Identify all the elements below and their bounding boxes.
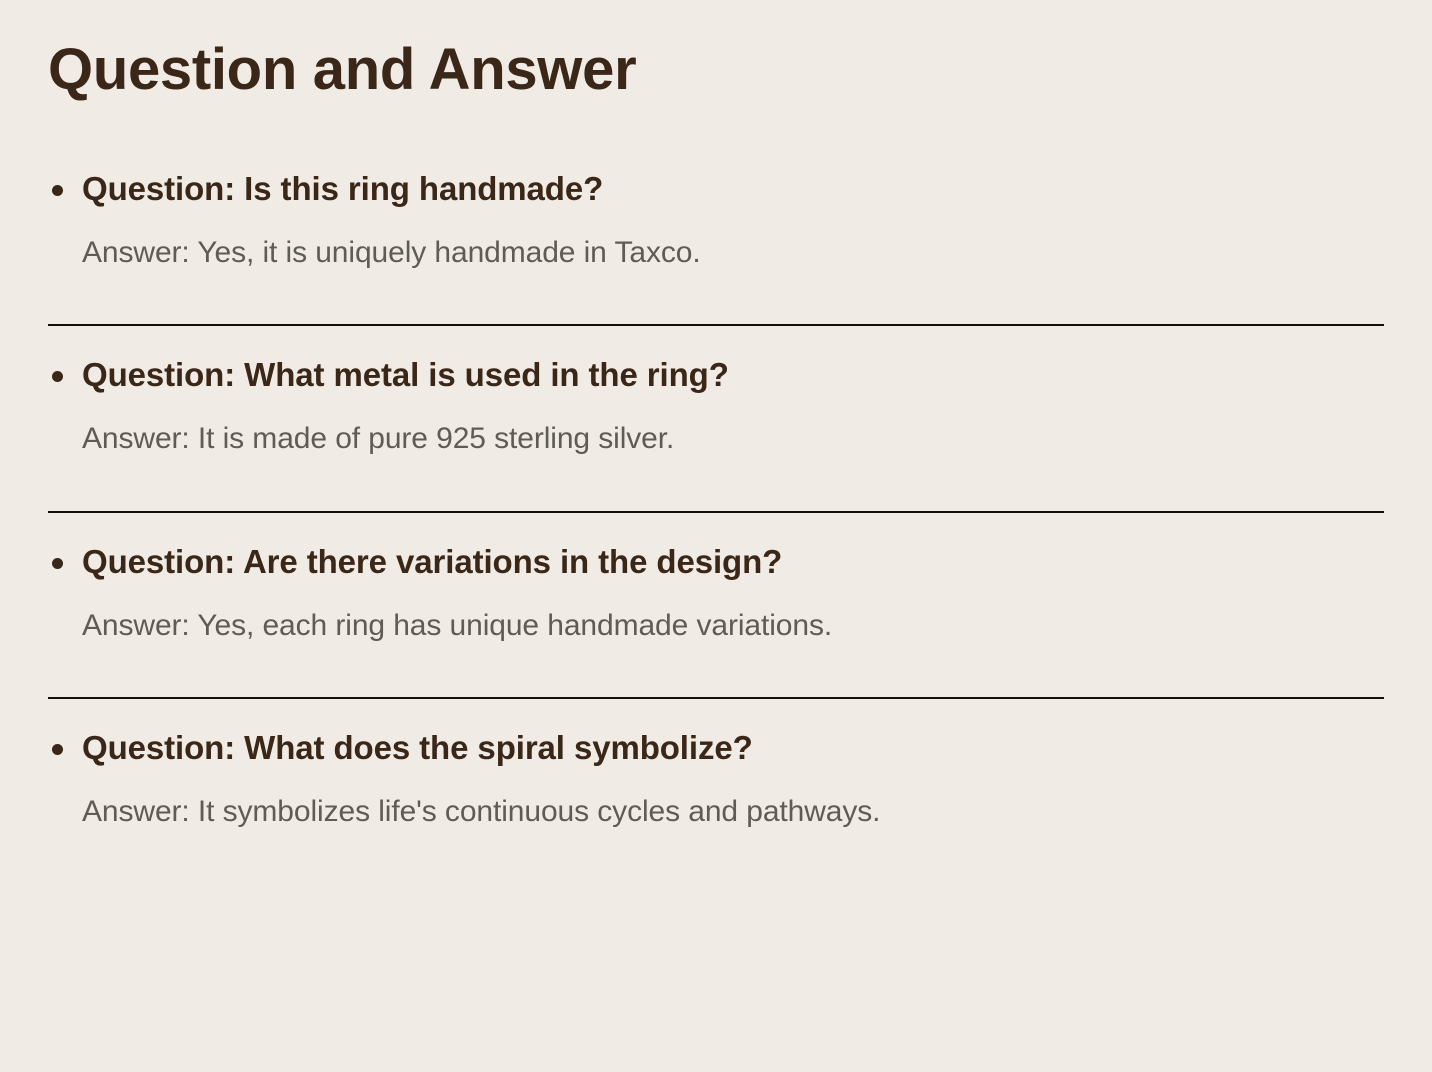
question-text: Question: What does the spiral symbolize… — [82, 727, 1384, 770]
bullet-dot-icon — [52, 371, 63, 382]
question-text: Question: What metal is used in the ring… — [82, 354, 1384, 397]
qa-item: Question: What does the spiral symbolize… — [48, 697, 1384, 831]
answer-row: Answer: Yes, it is uniquely handmade in … — [48, 233, 1384, 303]
qa-item: Question: Are there variations in the de… — [48, 511, 1384, 675]
question-row: Question: Are there variations in the de… — [48, 541, 1384, 584]
question-row: Question: What metal is used in the ring… — [48, 354, 1384, 397]
answer-row: Answer: Yes, each ring has unique handma… — [48, 606, 1384, 676]
question-text: Question: Are there variations in the de… — [82, 541, 1384, 584]
answer-text: Answer: Yes, each ring has unique handma… — [82, 606, 1384, 646]
qa-list: Question: Is this ring handmade? Answer:… — [48, 168, 1384, 832]
page-title: Question and Answer — [48, 36, 636, 104]
answer-text: Answer: Yes, it is uniquely handmade in … — [82, 233, 1384, 273]
bullet-dot-icon — [52, 185, 63, 196]
question-text: Question: Is this ring handmade? — [82, 168, 1384, 211]
bullet-dot-icon — [52, 558, 63, 569]
qa-item: Question: Is this ring handmade? Answer:… — [48, 168, 1384, 302]
question-row: Question: What does the spiral symbolize… — [48, 727, 1384, 770]
answer-row: Answer: It is made of pure 925 sterling … — [48, 419, 1384, 489]
qa-item: Question: What metal is used in the ring… — [48, 324, 1384, 488]
answer-text: Answer: It symbolizes life's continuous … — [82, 792, 1384, 832]
qa-page: Question and Answer Question: Is this ri… — [0, 0, 1432, 1072]
answer-text: Answer: It is made of pure 925 sterling … — [82, 419, 1384, 459]
bullet-dot-icon — [52, 744, 63, 755]
question-row: Question: Is this ring handmade? — [48, 168, 1384, 211]
answer-row: Answer: It symbolizes life's continuous … — [48, 792, 1384, 832]
